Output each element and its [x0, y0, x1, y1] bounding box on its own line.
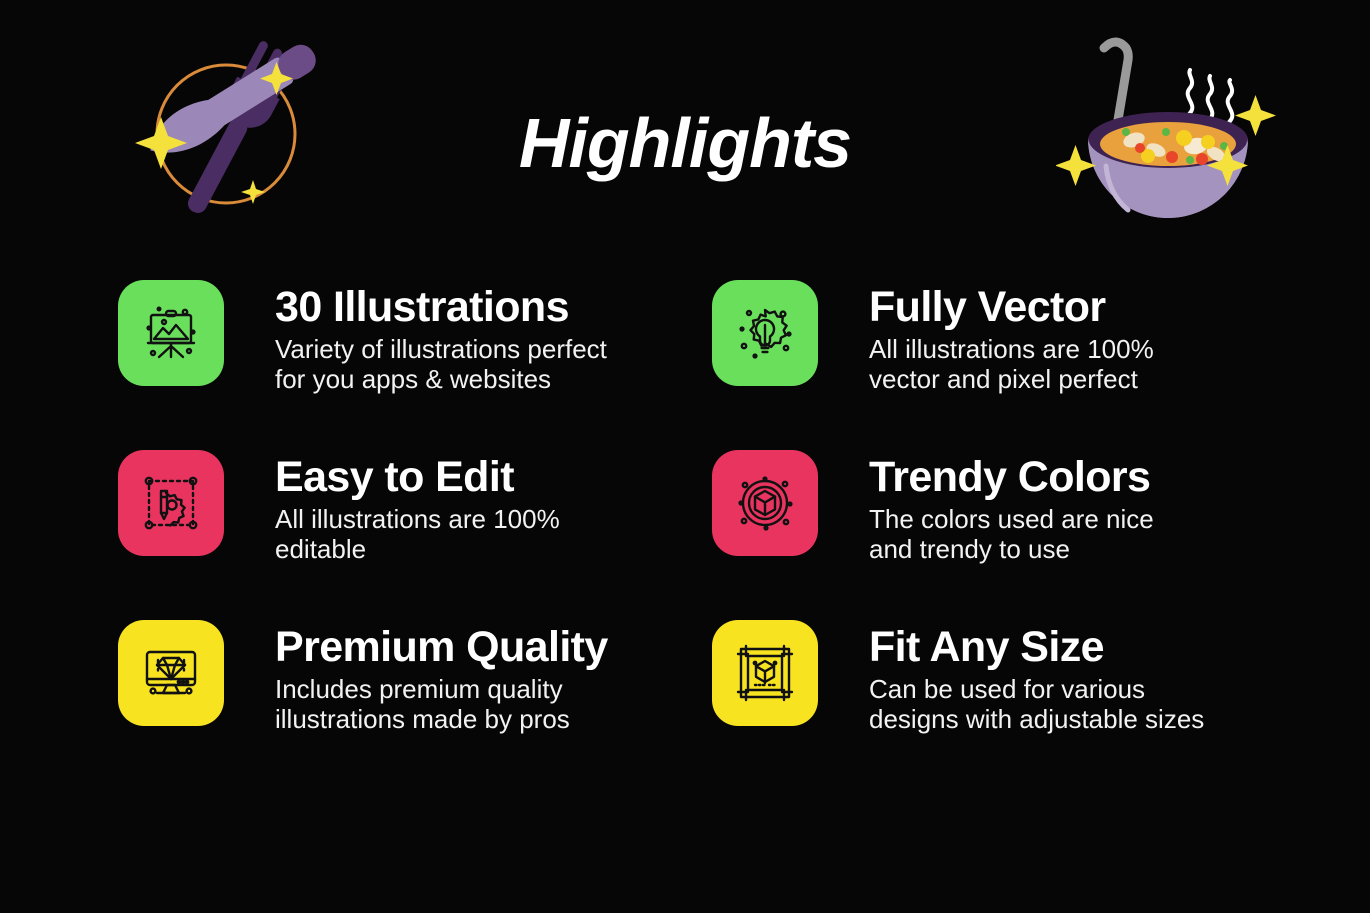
feature-description: Variety of illustrations perfect for you… — [275, 334, 607, 394]
highlights-grid: 30 Illustrations Variety of illustration… — [0, 270, 1370, 770]
cube-orbit-icon — [733, 471, 797, 535]
page-title: Highlights — [0, 100, 1370, 186]
feature-icon-tile — [118, 620, 224, 726]
feature-title: Trendy Colors — [869, 452, 1154, 502]
feature-title: Fully Vector — [869, 282, 1154, 332]
feature-item-premium-quality[interactable]: Premium Quality Includes premium quality… — [118, 620, 608, 734]
feature-icon-tile — [712, 280, 818, 386]
feature-icon-tile — [712, 450, 818, 556]
feature-icon-tile — [118, 450, 224, 556]
pencil-gear-selection-icon — [139, 471, 203, 535]
slide-canvas: Highlights — [0, 0, 1370, 913]
feature-text-block: Fully Vector All illustrations are 100% … — [869, 280, 1154, 394]
feature-item-easy-to-edit[interactable]: Easy to Edit All illustrations are 100% … — [118, 450, 560, 564]
monitor-diamond-icon — [139, 641, 203, 705]
feature-description: All illustrations are 100% editable — [275, 504, 560, 564]
feature-description: The colors used are nice and trendy to u… — [869, 504, 1154, 564]
feature-item-fit-any-size[interactable]: Fit Any Size Can be used for various des… — [712, 620, 1204, 734]
feature-text-block: Easy to Edit All illustrations are 100% … — [275, 450, 560, 564]
cube-frame-icon — [733, 641, 797, 705]
feature-item-trendy-colors[interactable]: Trendy Colors The colors used are nice a… — [712, 450, 1154, 564]
feature-item-fully-vector[interactable]: Fully Vector All illustrations are 100% … — [712, 280, 1154, 394]
feature-text-block: Premium Quality Includes premium quality… — [275, 620, 608, 734]
feature-description: Includes premium quality illustrations m… — [275, 674, 608, 734]
feature-title: Premium Quality — [275, 622, 608, 672]
feature-title: 30 Illustrations — [275, 282, 607, 332]
feature-text-block: Trendy Colors The colors used are nice a… — [869, 450, 1154, 564]
feature-description: All illustrations are 100% vector and pi… — [869, 334, 1154, 394]
feature-title: Fit Any Size — [869, 622, 1204, 672]
feature-text-block: 30 Illustrations Variety of illustration… — [275, 280, 607, 394]
gear-lightbulb-icon — [733, 301, 797, 365]
feature-icon-tile — [712, 620, 818, 726]
feature-icon-tile — [118, 280, 224, 386]
feature-title: Easy to Edit — [275, 452, 560, 502]
feature-text-block: Fit Any Size Can be used for various des… — [869, 620, 1204, 734]
feature-item-30-illustrations[interactable]: 30 Illustrations Variety of illustration… — [118, 280, 607, 394]
feature-description: Can be used for various designs with adj… — [869, 674, 1204, 734]
easel-canvas-icon — [139, 301, 203, 365]
